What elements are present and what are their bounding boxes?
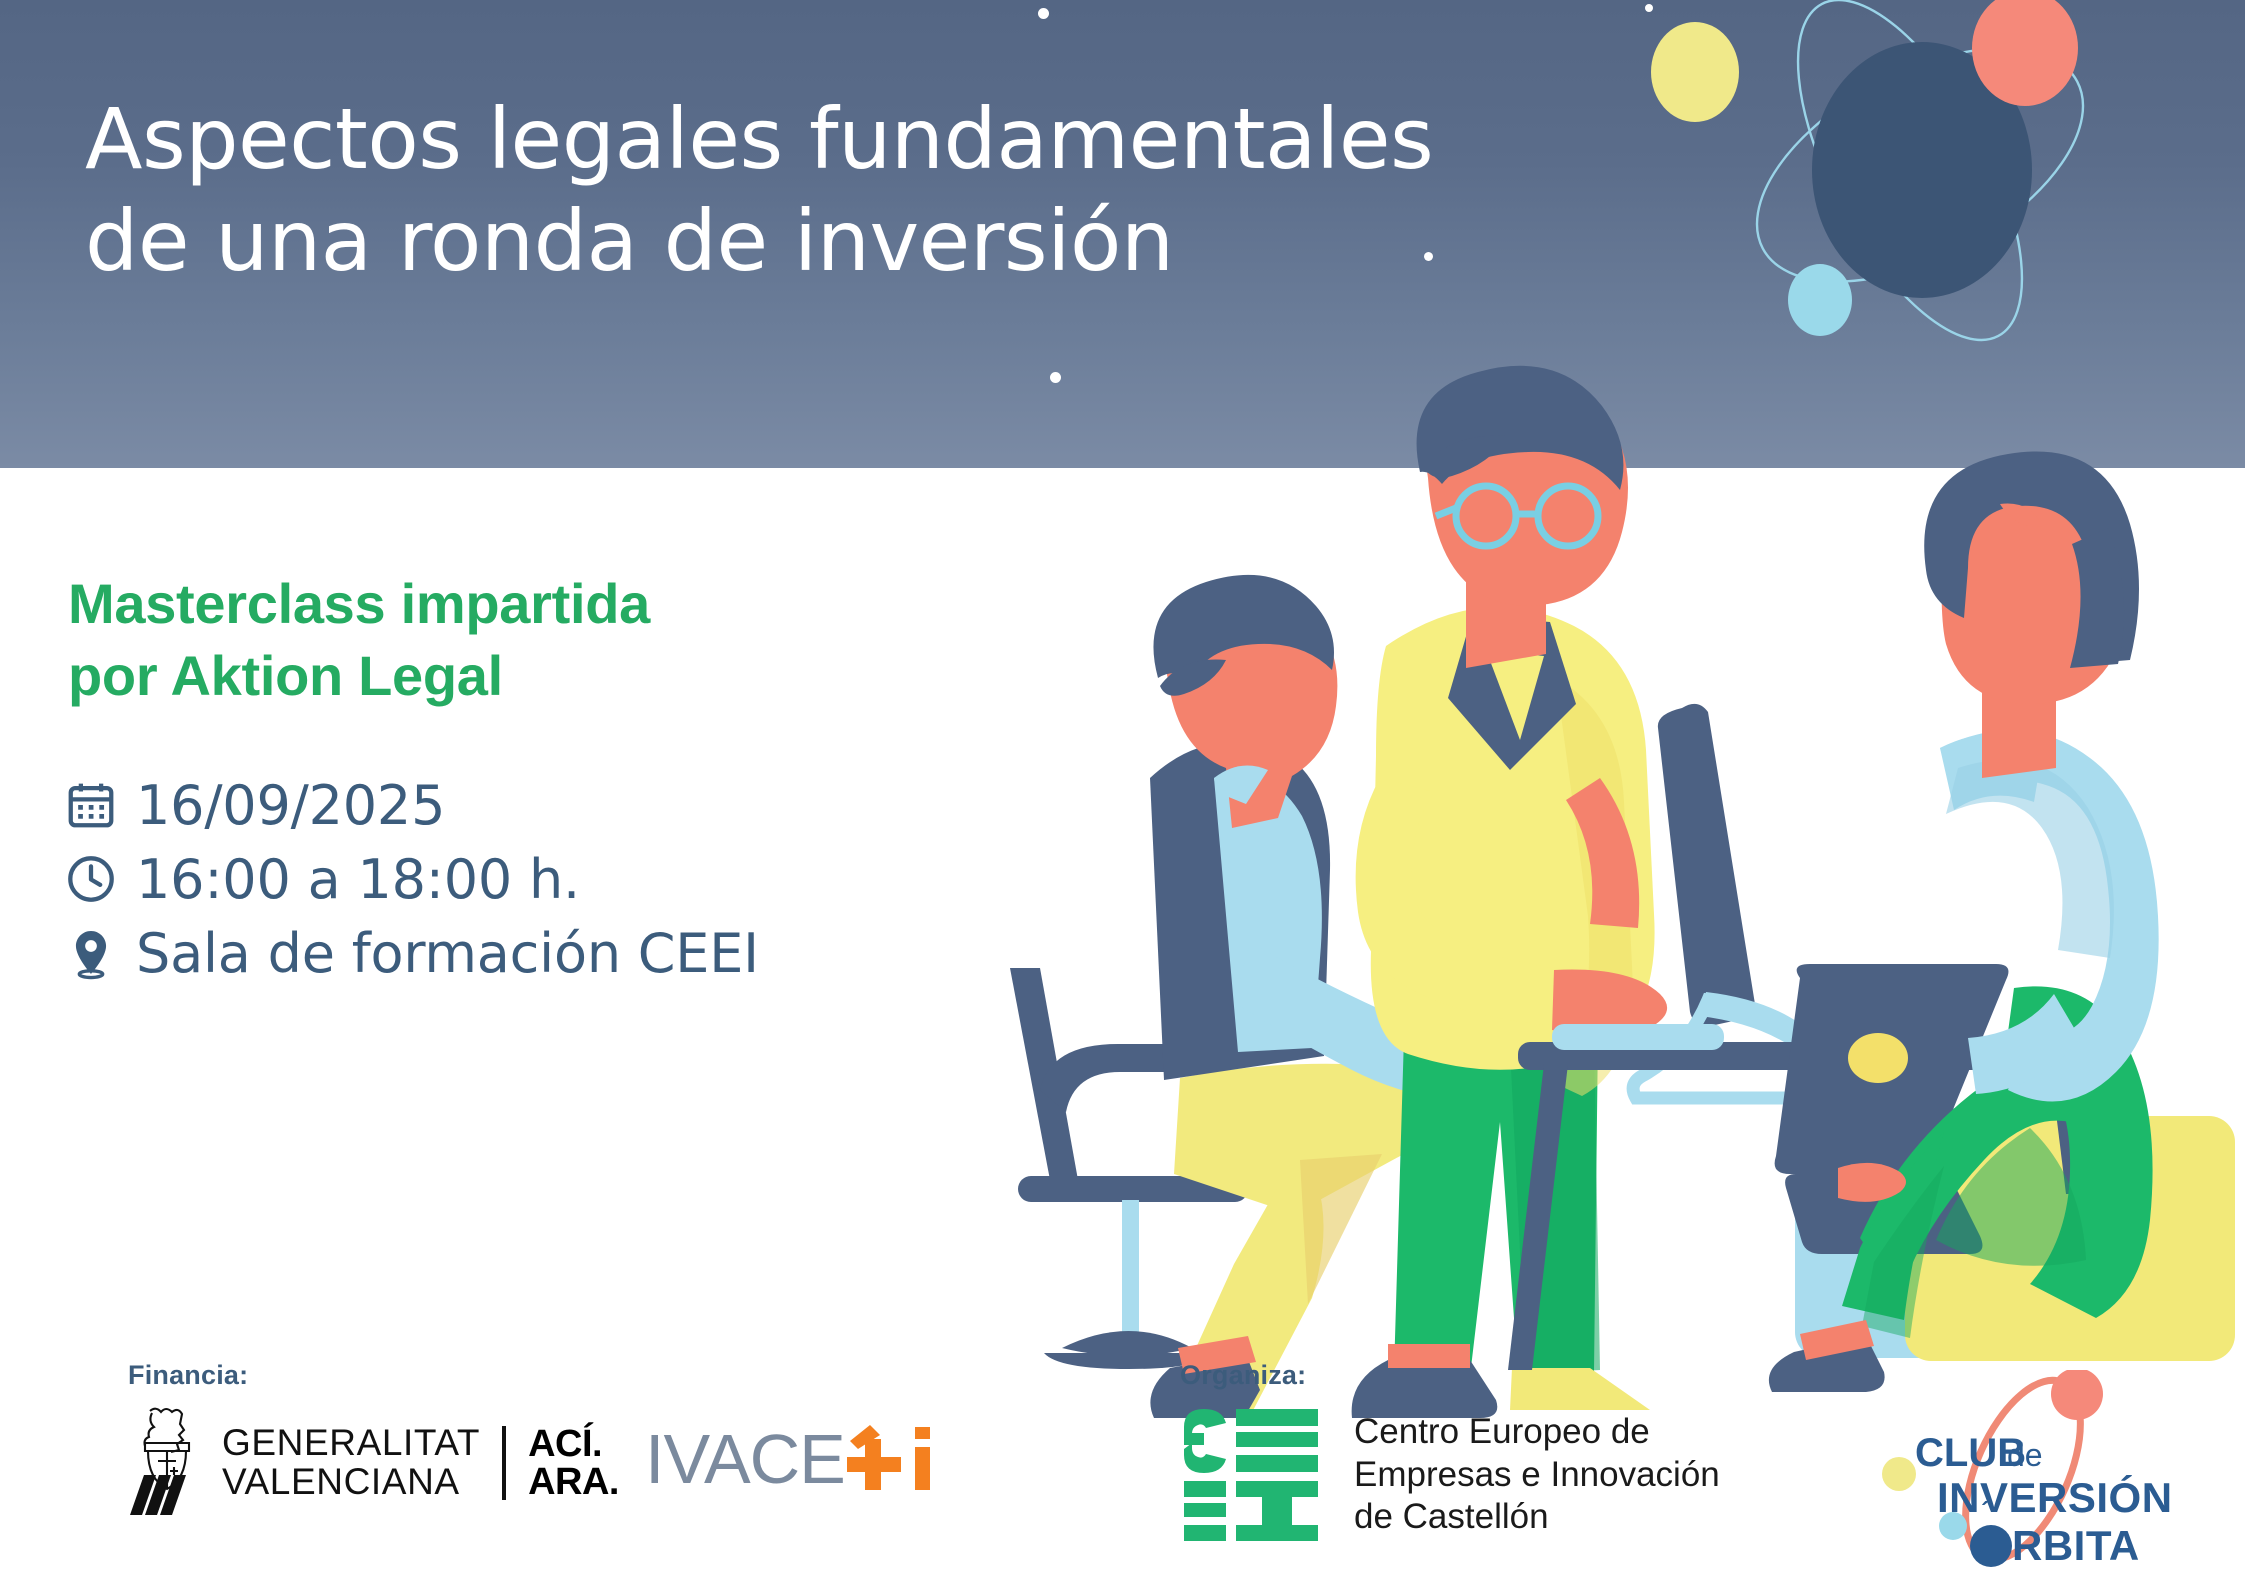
- organiza-block: Organiza: Centro Europeo: [1180, 1360, 1810, 1545]
- calendar-icon: [60, 774, 122, 836]
- orbit-graphic: [1620, 0, 2180, 400]
- star-dot: [1038, 8, 1049, 19]
- detail-row-time: 16:00 a 18:00 h.: [60, 842, 960, 916]
- ceei-name-text: Centro Europeo de Empresas e Innovación …: [1354, 1411, 1720, 1539]
- detail-row-location: Sala de formación CEEI: [60, 916, 960, 990]
- club-word-orbita: RBITA: [2012, 1522, 2140, 1569]
- club-inversion-orbita-logo: CLUB de INVERSIÓN ´ RBITA: [1855, 1370, 2215, 1570]
- footer: Financia: GENERALITAT VALEN: [0, 1360, 2245, 1587]
- person-standing-man: [1352, 366, 1667, 1418]
- detail-date-text: 16/09/2025: [136, 774, 445, 837]
- financia-label: Financia:: [128, 1360, 958, 1391]
- club-orbita-accent: ´: [1981, 1496, 1990, 1526]
- ceei-logo-mark: [1180, 1405, 1330, 1545]
- star-dot: [1050, 372, 1061, 383]
- orbit-dot-lightblue: [1788, 264, 1852, 336]
- detail-location-text: Sala de formación CEEI: [136, 922, 759, 985]
- club-dot-yellow: [1882, 1457, 1916, 1491]
- ivace-plus-i: [847, 1425, 930, 1490]
- orbit-dot-yellow: [1651, 22, 1739, 122]
- generalitat-text: GENERALITAT VALENCIANA: [222, 1424, 480, 1501]
- clock-icon: [60, 848, 122, 910]
- club-planet-coral: [2051, 1370, 2103, 1420]
- detail-row-date: 16/09/2025: [60, 768, 960, 842]
- people-working-illustration: [1000, 348, 2245, 1418]
- location-pin-icon: [60, 922, 122, 984]
- financia-logos: GENERALITAT VALENCIANA ACÍ. ARA. IVACE: [128, 1405, 958, 1520]
- club-orbita-o-circle: [1970, 1525, 2012, 1567]
- financia-block: Financia: GENERALITAT VALEN: [128, 1360, 958, 1520]
- organiza-label: Organiza:: [1180, 1360, 1810, 1391]
- organiza-logos: Centro Europeo de Empresas e Innovación …: [1180, 1405, 1810, 1545]
- laptop-logo: [1848, 1033, 1908, 1083]
- logo-divider: [502, 1426, 506, 1500]
- detail-time-text: 16:00 a 18:00 h.: [136, 848, 580, 911]
- generalitat-coat-of-arms-icon: [128, 1405, 206, 1520]
- club-word-de: de: [2007, 1437, 2043, 1473]
- club-word-inversion: INVERSIÓN: [1937, 1473, 2173, 1521]
- speaker-heading: Masterclass impartida por Aktion Legal: [68, 568, 868, 711]
- ivace-logo: IVACE: [645, 1421, 945, 1505]
- aci-ara-text: ACÍ. ARA.: [528, 1425, 619, 1501]
- page-title: Aspectos legales fundamentales de una ro…: [85, 88, 1433, 293]
- event-details: 16/09/2025 16:00 a 18:00 h. Sala de form…: [60, 768, 960, 990]
- ivace-wordmark: IVACE: [645, 1421, 845, 1498]
- person-seated-woman: [1769, 451, 2159, 1392]
